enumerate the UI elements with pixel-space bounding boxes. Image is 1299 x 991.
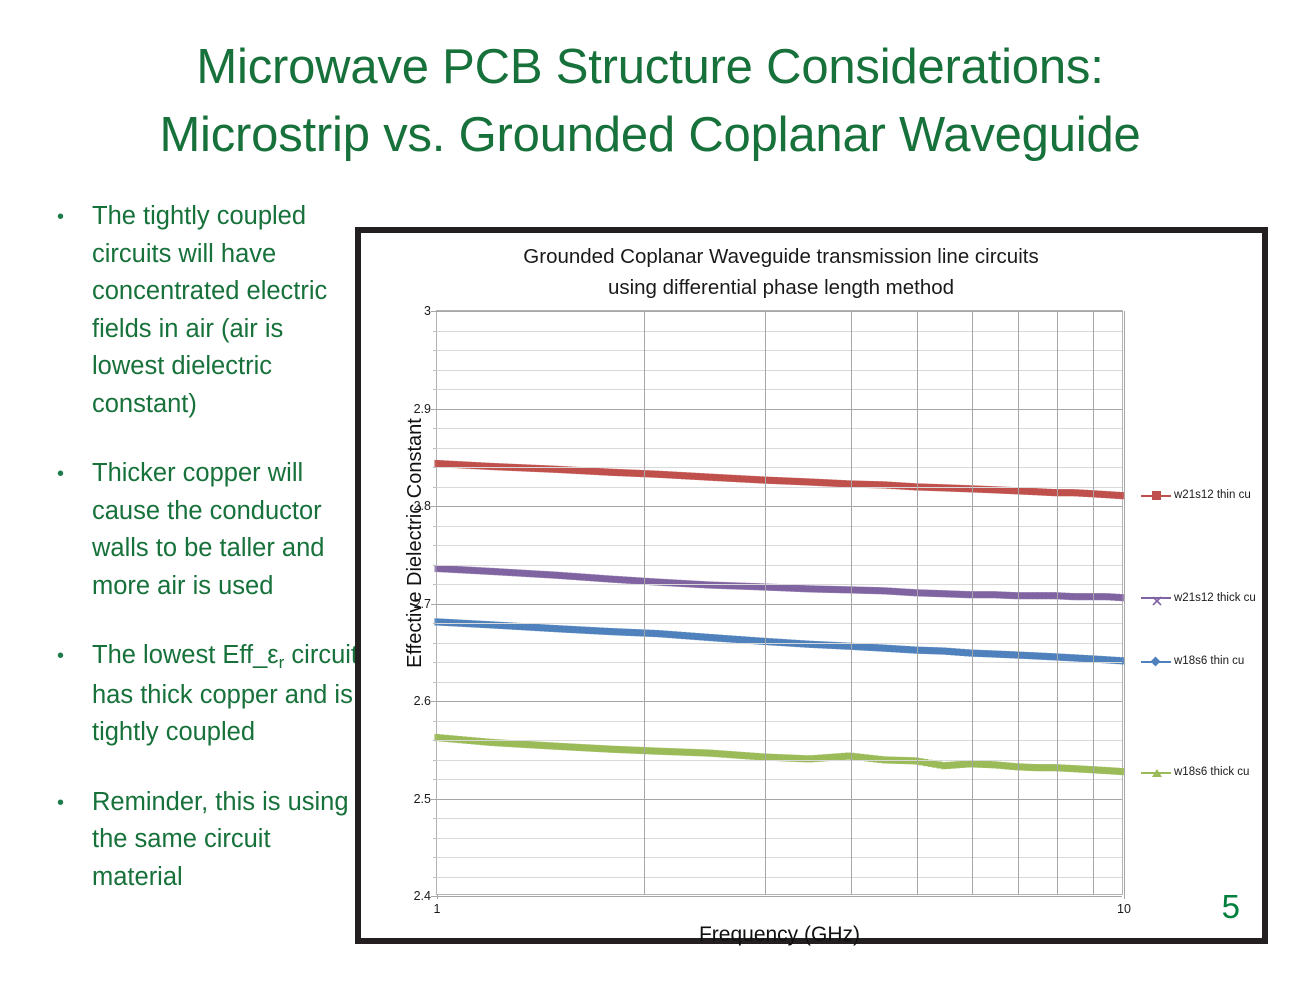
gridline-minor-horizontal (437, 682, 1122, 683)
gridline-minor-horizontal (437, 331, 1122, 332)
legend-label: w18s6 thick cu (1174, 766, 1249, 778)
gridline-vertical (1018, 311, 1019, 894)
legend-marker-icon (1141, 592, 1171, 603)
gridline-minor-horizontal (437, 428, 1122, 429)
data-series-1 (434, 460, 1124, 499)
y-axis-tick (433, 467, 437, 468)
legend-label: w18s6 thin cu (1174, 655, 1244, 667)
gridline-vertical (644, 311, 645, 894)
gridline-minor-horizontal (437, 487, 1122, 488)
bullet-text: The lowest Eff_εr circuit has thick copp… (92, 637, 360, 752)
title-line-2: Microstrip vs. Grounded Coplanar Wavegui… (60, 102, 1240, 170)
y-axis-tick (433, 526, 437, 527)
gridline-minor-horizontal (437, 448, 1122, 449)
y-axis-tick (431, 799, 437, 800)
y-axis-tick (433, 584, 437, 585)
gridline-minor-horizontal (437, 565, 1122, 566)
y-axis-tick-label: 2.5 (414, 792, 431, 806)
gridline-vertical (1057, 311, 1058, 894)
y-axis-tick (433, 857, 437, 858)
chart-title: Grounded Coplanar Waveguide transmission… (401, 241, 1161, 303)
gridline-minor-horizontal (437, 545, 1122, 546)
list-item: • Thicker copper will cause the conducto… (40, 455, 360, 605)
gridline-minor-horizontal (437, 740, 1122, 741)
title-line-1: Microwave PCB Structure Considerations: (60, 34, 1240, 102)
gridline-major-horizontal (437, 311, 1122, 312)
gridline-major-horizontal (437, 896, 1122, 897)
legend-item[interactable]: w21s12 thin cu (1141, 489, 1251, 501)
gridline-major-horizontal (437, 409, 1122, 410)
page-title: Microwave PCB Structure Considerations: … (60, 34, 1240, 169)
gridline-minor-horizontal (437, 370, 1122, 371)
y-axis-tick (431, 604, 437, 605)
bullet-list: • The tightly coupled circuits will have… (40, 198, 360, 928)
x-axis-tick (437, 894, 438, 899)
legend-item[interactable]: w18s6 thick cu (1141, 766, 1249, 778)
slide: Microwave PCB Structure Considerations: … (0, 0, 1299, 991)
gridline-major-horizontal (437, 799, 1122, 800)
y-axis-tick-label: 2.4 (414, 889, 431, 903)
plot-area: 32.92.82.72.62.52.4110 (436, 310, 1123, 895)
gridline-minor-horizontal (437, 857, 1122, 858)
chart-container: Grounded Coplanar Waveguide transmission… (355, 227, 1268, 944)
legend-label: w21s12 thin cu (1174, 489, 1251, 501)
bullet-marker-icon: • (40, 784, 92, 897)
y-axis-tick (433, 877, 437, 878)
bullet-marker-icon: • (40, 637, 92, 752)
chart-title-line-1: Grounded Coplanar Waveguide transmission… (401, 241, 1161, 272)
x-axis-tick (1124, 894, 1125, 899)
bullet-text-pre: The lowest Eff_ε (92, 641, 279, 669)
y-axis-tick (433, 662, 437, 663)
y-axis-tick (431, 409, 437, 410)
gridline-minor-horizontal (437, 350, 1122, 351)
chart-title-line-2: using differential phase length method (401, 272, 1161, 303)
gridline-vertical (851, 311, 852, 894)
bullet-text: The tightly coupled circuits will have c… (92, 198, 360, 423)
y-axis-tick (433, 721, 437, 722)
bullet-text-subscript: r (279, 653, 285, 672)
gridline-minor-horizontal (437, 662, 1122, 663)
bullet-text: Thicker copper will cause the conductor … (92, 455, 360, 605)
gridline-minor-horizontal (437, 467, 1122, 468)
y-axis-tick (433, 545, 437, 546)
gridline-major-horizontal (437, 701, 1122, 702)
y-axis-tick (433, 565, 437, 566)
bullet-marker-icon: • (40, 455, 92, 605)
bullet-marker-icon: • (40, 198, 92, 423)
gridline-minor-horizontal (437, 760, 1122, 761)
y-axis-tick (433, 448, 437, 449)
chart-legend: w21s12 thin cuw21s12 thick cuw18s6 thin … (1141, 233, 1271, 938)
y-axis-tick (433, 740, 437, 741)
x-axis-tick-label: 1 (434, 902, 441, 916)
y-axis-tick (431, 701, 437, 702)
legend-marker-icon (1141, 490, 1171, 501)
y-axis-tick (433, 370, 437, 371)
y-axis-tick (433, 818, 437, 819)
y-axis-tick (433, 779, 437, 780)
y-axis-tick-label: 3 (424, 304, 431, 318)
y-axis-tick (433, 487, 437, 488)
y-axis-tick-label: 2.8 (414, 499, 431, 513)
gridline-major-horizontal (437, 506, 1122, 507)
gridline-vertical (765, 311, 766, 894)
y-axis-tick (433, 623, 437, 624)
y-axis-tick (433, 838, 437, 839)
gridline-vertical (972, 311, 973, 894)
bullet-text: Reminder, this is using the same circuit… (92, 784, 360, 897)
list-item: • Reminder, this is using the same circu… (40, 784, 360, 897)
gridline-minor-horizontal (437, 877, 1122, 878)
y-axis-tick-label: 2.9 (414, 402, 431, 416)
y-axis-tick-label: 2.6 (414, 694, 431, 708)
y-axis-tick (431, 311, 437, 312)
y-axis-tick (433, 643, 437, 644)
list-item: • The tightly coupled circuits will have… (40, 198, 360, 423)
gridline-minor-horizontal (437, 643, 1122, 644)
y-axis-tick (433, 331, 437, 332)
gridline-minor-horizontal (437, 779, 1122, 780)
gridline-minor-horizontal (437, 838, 1122, 839)
gridline-minor-horizontal (437, 721, 1122, 722)
legend-marker-icon (1141, 656, 1171, 667)
gridline-vertical (917, 311, 918, 894)
gridline-vertical (1124, 311, 1125, 894)
gridline-minor-horizontal (437, 584, 1122, 585)
legend-marker-icon (1141, 767, 1171, 778)
x-axis-label: Frequency (GHz) (436, 923, 1123, 947)
x-axis-tick-label: 10 (1117, 902, 1131, 916)
gridline-minor-horizontal (437, 818, 1122, 819)
gridline-vertical (1093, 311, 1094, 894)
series-layer (437, 311, 1122, 894)
y-axis-tick (433, 760, 437, 761)
gridline-minor-horizontal (437, 526, 1122, 527)
gridline-major-horizontal (437, 604, 1122, 605)
y-axis-tick (433, 389, 437, 390)
y-axis-label: Effective Dielectric Constant (404, 393, 427, 693)
y-axis-tick (433, 682, 437, 683)
legend-label: w21s12 thick cu (1174, 592, 1256, 604)
legend-item[interactable]: w21s12 thick cu (1141, 592, 1256, 604)
page-number: 5 (1222, 888, 1240, 926)
gridline-minor-horizontal (437, 623, 1122, 624)
y-axis-tick (431, 506, 437, 507)
legend-item[interactable]: w18s6 thin cu (1141, 655, 1244, 667)
y-axis-tick (433, 350, 437, 351)
list-item: • The lowest Eff_εr circuit has thick co… (40, 637, 360, 752)
y-axis-tick (433, 428, 437, 429)
y-axis-tick-label: 2.7 (414, 597, 431, 611)
gridline-minor-horizontal (437, 389, 1122, 390)
data-series-3 (434, 618, 1124, 664)
